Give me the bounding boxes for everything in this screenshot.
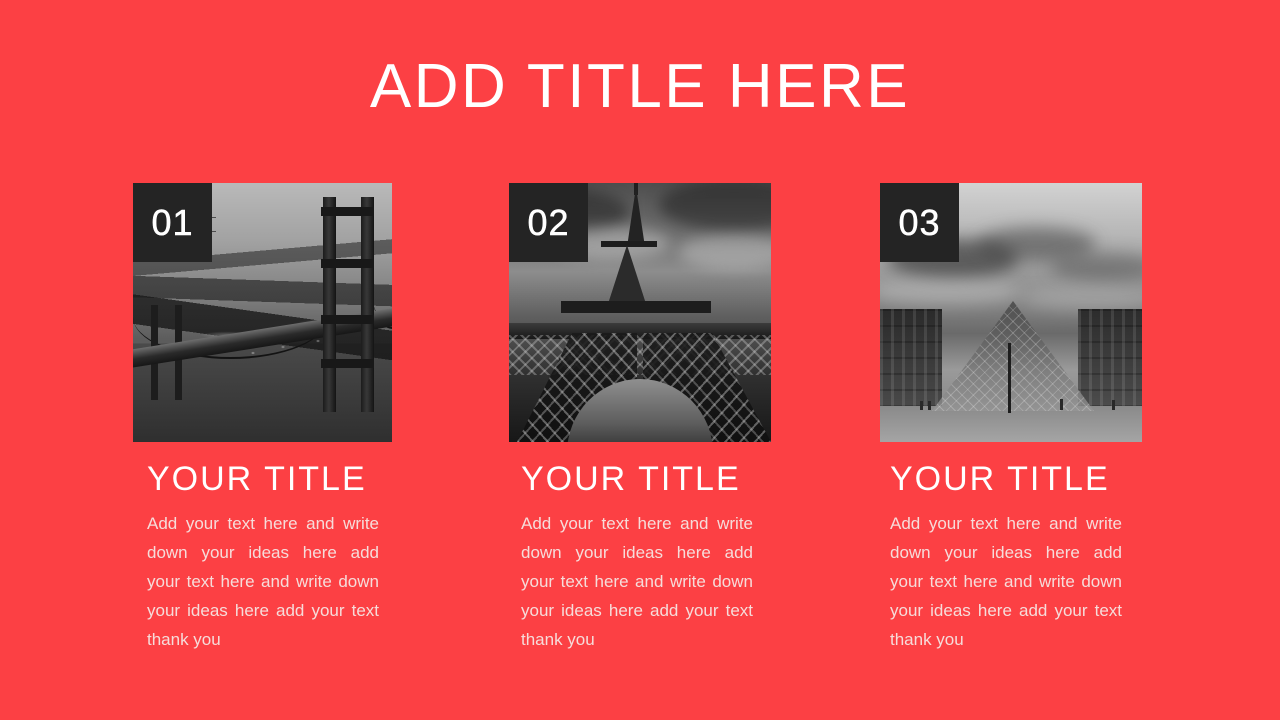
number-badge-1: 01 bbox=[133, 183, 212, 262]
number-badge-label: 03 bbox=[898, 205, 940, 241]
number-badge-label: 02 bbox=[527, 205, 569, 241]
glass-pyramid bbox=[932, 301, 1094, 411]
cloud bbox=[659, 183, 771, 231]
column-heading-3: YOUR TITLE bbox=[880, 459, 1142, 499]
cloud bbox=[679, 235, 771, 269]
page-title: ADD TITLE HERE bbox=[0, 52, 1280, 122]
content-column-1[interactable]: 01 YOUR TITLE Add your text here and wri… bbox=[133, 183, 395, 654]
louvre-palace-left bbox=[880, 309, 942, 409]
number-badge-2: 02 bbox=[509, 183, 588, 262]
bridge-tower bbox=[361, 197, 374, 412]
bridge-crossbar bbox=[321, 315, 374, 324]
cloud bbox=[1020, 287, 1142, 311]
presentation-slide: ADD TITLE HERE bbox=[0, 0, 1280, 720]
louvre-palace-right bbox=[1078, 309, 1142, 409]
column-heading-2: YOUR TITLE bbox=[509, 459, 771, 499]
courtyard-ground bbox=[880, 406, 1142, 442]
bridge-tower bbox=[323, 197, 336, 412]
eiffel-lattice bbox=[509, 335, 771, 375]
eiffel-platform bbox=[561, 301, 711, 313]
cloud bbox=[1050, 253, 1142, 281]
pedestrian bbox=[1060, 399, 1063, 410]
pedestrian bbox=[1112, 400, 1115, 410]
photo-card-2[interactable]: 02 bbox=[509, 183, 771, 442]
content-column-3[interactable]: 03 YOUR TITLE Add your text here and wri… bbox=[880, 183, 1142, 654]
column-body-2: Add your text here and write down your i… bbox=[521, 509, 753, 654]
column-heading-1: YOUR TITLE bbox=[133, 459, 395, 499]
eiffel-middle-section bbox=[607, 245, 647, 307]
content-column-2[interactable]: 02 YOUR TITLE Add your text here and wri… bbox=[509, 183, 771, 654]
pedestrian bbox=[928, 401, 931, 410]
column-body-1: Add your text here and write down your i… bbox=[147, 509, 379, 654]
photo-card-1[interactable]: 01 bbox=[133, 183, 392, 442]
pedestrian bbox=[920, 401, 923, 410]
columns-container: 01 YOUR TITLE Add your text here and wri… bbox=[133, 183, 1143, 683]
photo-card-3[interactable]: 03 bbox=[880, 183, 1142, 442]
bridge-crossbar bbox=[321, 259, 374, 268]
column-body-3: Add your text here and write down your i… bbox=[890, 509, 1122, 654]
bridge-crossbar bbox=[321, 207, 374, 216]
number-badge-label: 01 bbox=[151, 205, 193, 241]
cloud bbox=[880, 279, 1020, 305]
pyramid-front-edge bbox=[1008, 343, 1011, 413]
eiffel-upper-section bbox=[627, 187, 645, 247]
bridge-crossbar bbox=[321, 359, 374, 368]
number-badge-3: 03 bbox=[880, 183, 959, 262]
